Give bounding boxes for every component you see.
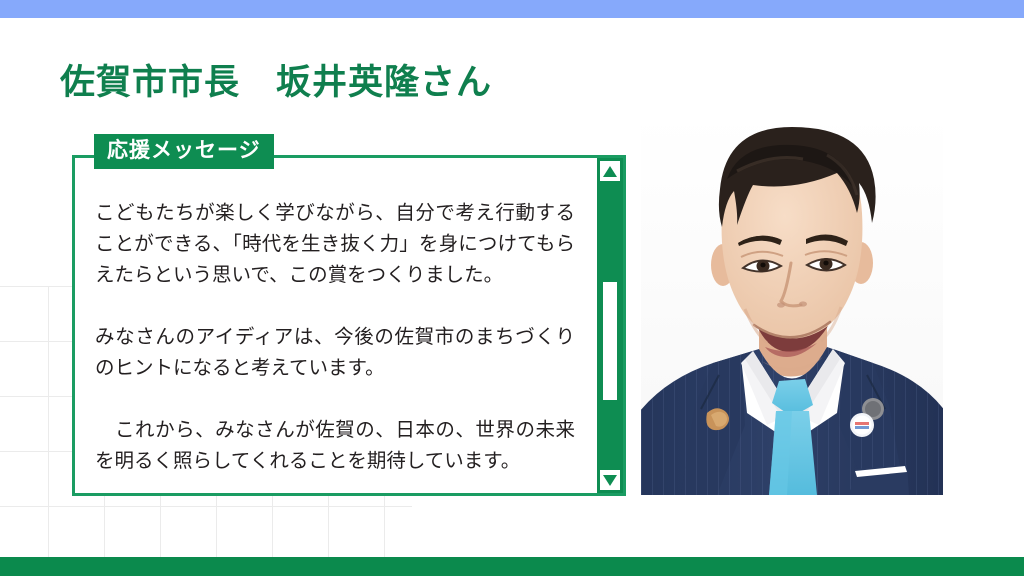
top-decorative-band <box>0 0 1024 18</box>
message-panel-tab-label: 応援メッセージ <box>94 134 274 169</box>
message-body: こどもたちが楽しく学びながら、自分で考え行動することができる、「時代を生き抜く力… <box>95 198 575 477</box>
portrait-photo <box>641 113 943 495</box>
triangle-down-icon <box>603 475 617 486</box>
portrait-illustration <box>641 113 943 495</box>
scrollbar-thumb[interactable] <box>603 282 617 400</box>
triangle-up-icon <box>603 166 617 177</box>
scroll-up-button[interactable] <box>600 161 620 181</box>
message-scrollbar[interactable] <box>597 158 623 493</box>
bottom-decorative-band <box>0 557 1024 576</box>
slide-root: 佐賀市市長 坂井英隆さん 応援メッセージ こどもたちが楽しく学びながら、自分で考… <box>0 0 1024 576</box>
page-title: 佐賀市市長 坂井英隆さん <box>60 60 492 106</box>
scroll-down-button[interactable] <box>600 470 620 490</box>
message-paragraph-1: こどもたちが楽しく学びながら、自分で考え行動することができる、「時代を生き抜く力… <box>95 198 575 291</box>
message-paragraph-2: みなさんのアイディアは、今後の佐賀市のまちづくりのヒントになると考えています。 <box>95 322 575 384</box>
message-paragraph-3: これから、みなさんが佐賀の、日本の、世界の未来を明るく照らしてくれることを期待し… <box>95 415 575 477</box>
